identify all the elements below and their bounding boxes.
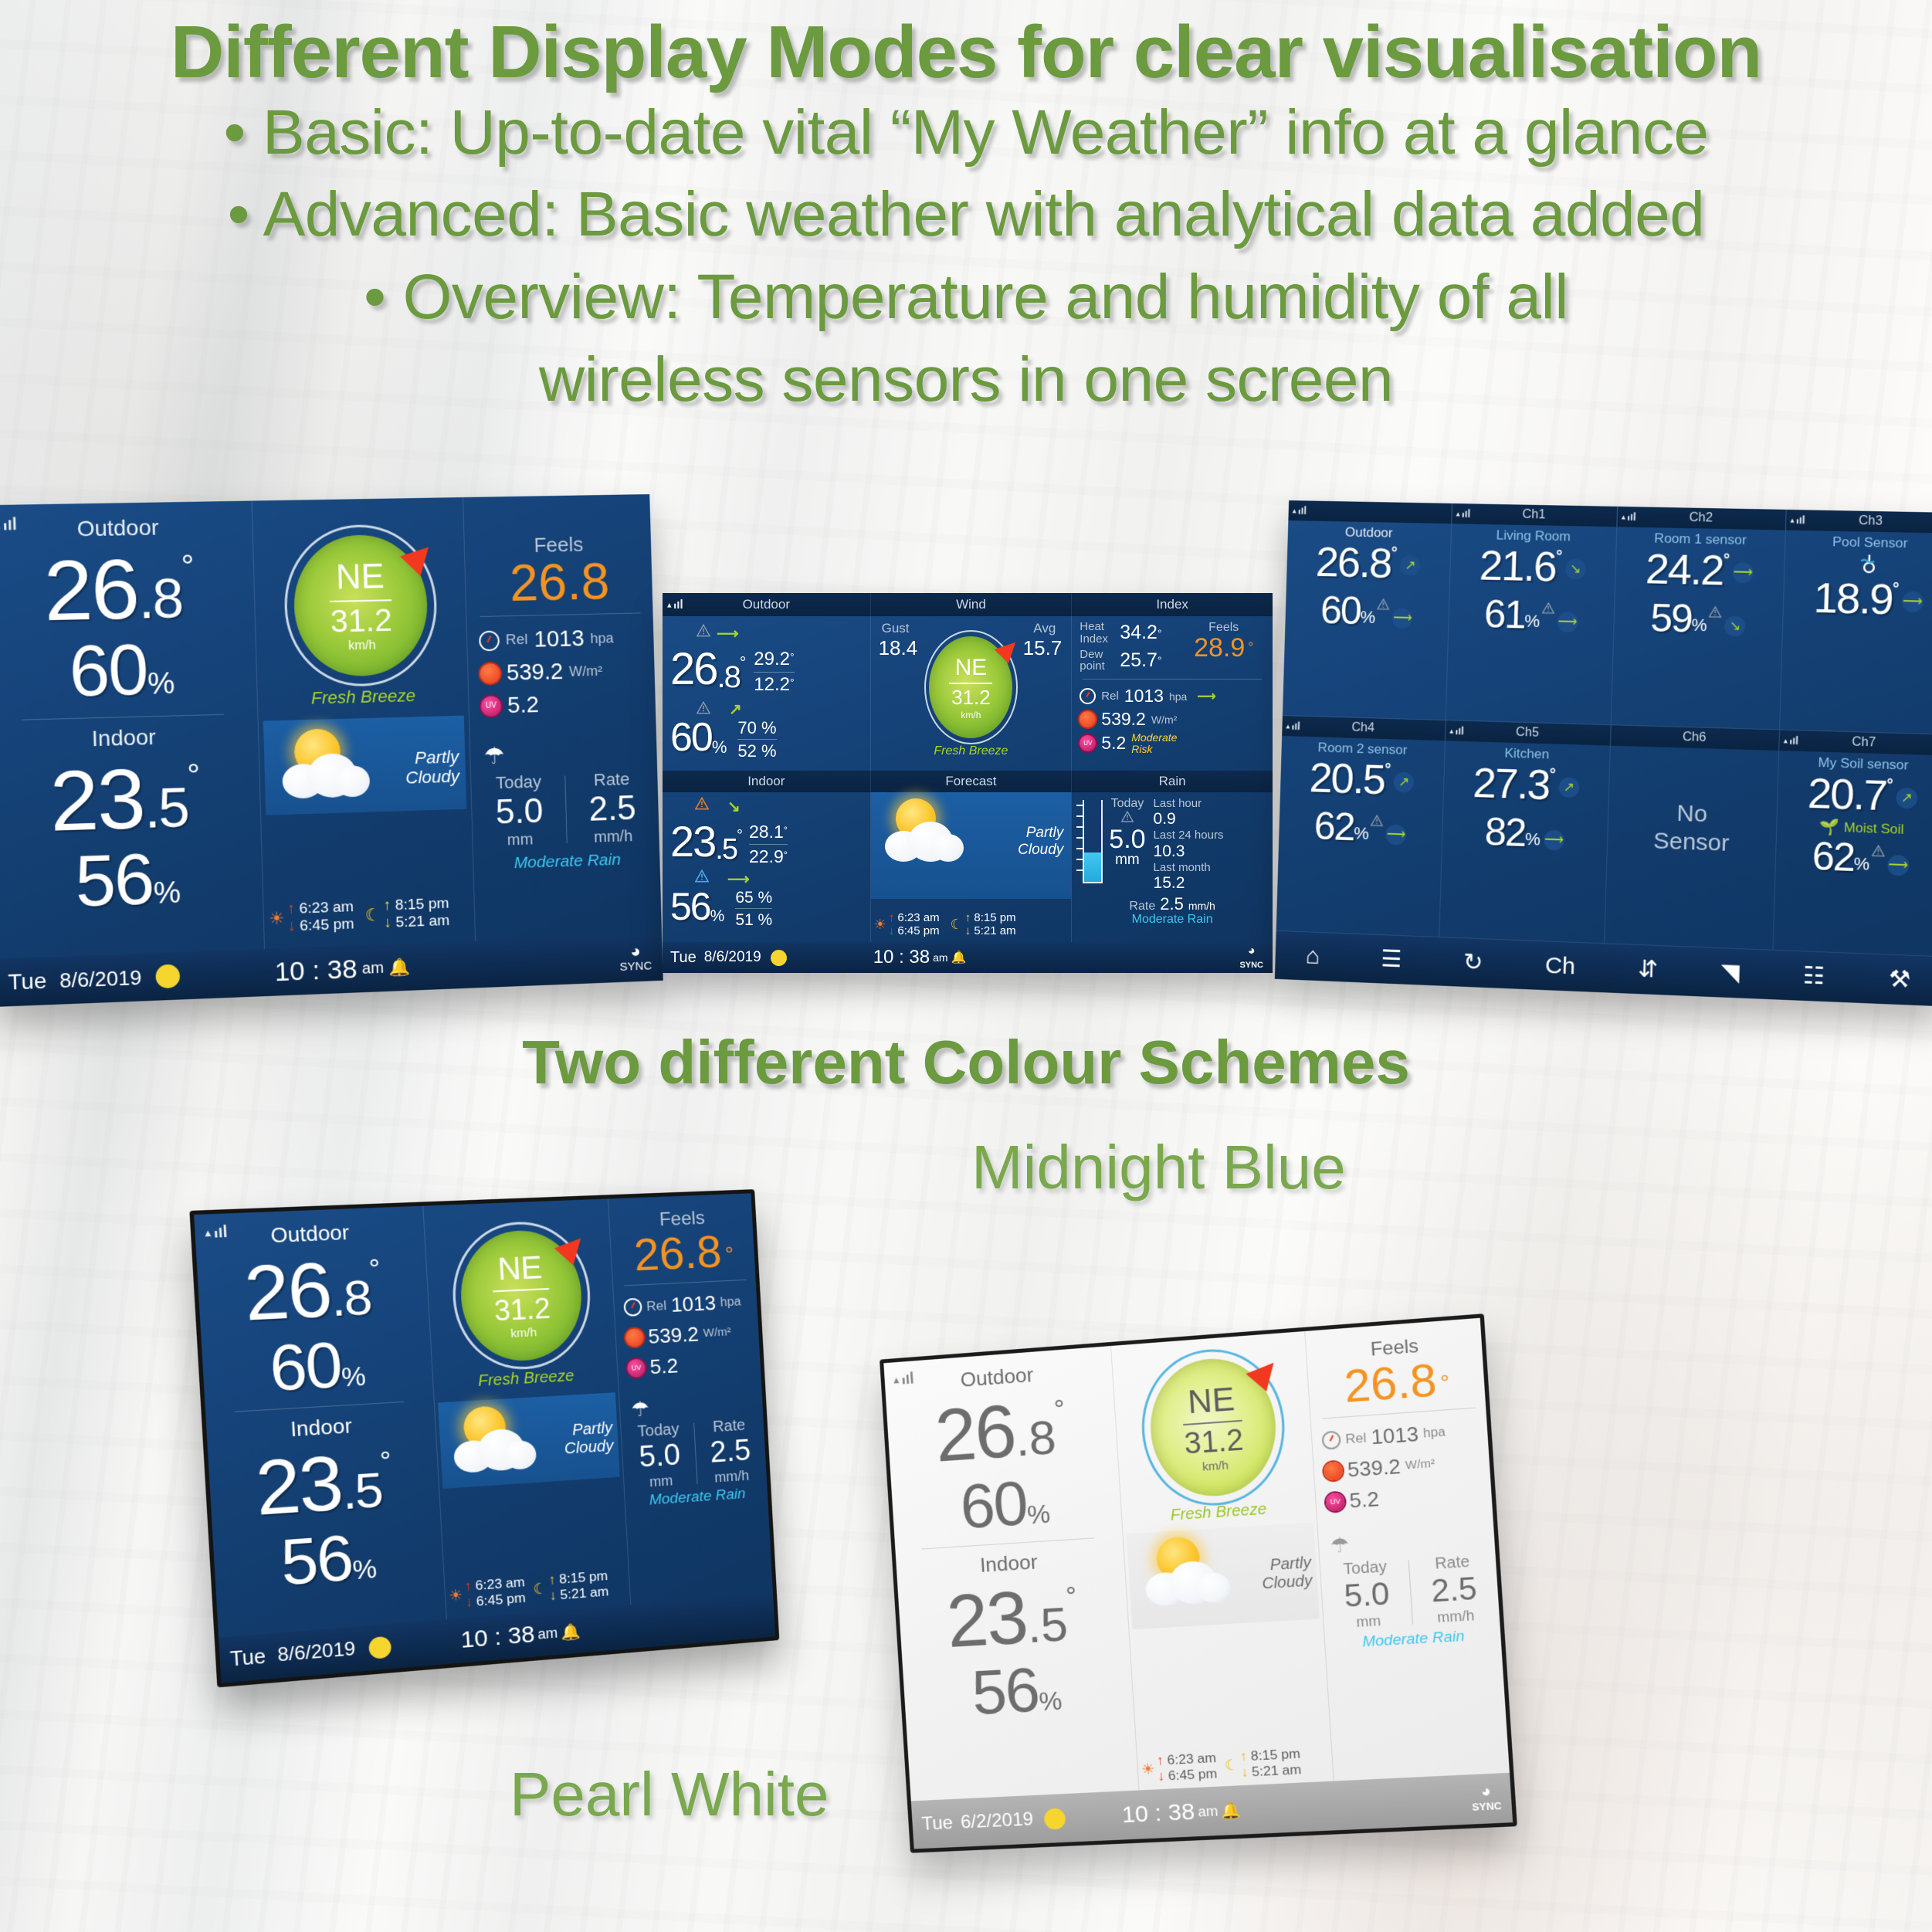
- alarm-bell-icon: 🔔: [561, 1621, 581, 1642]
- overview-humidity-trend-icon: ⟶: [1386, 825, 1407, 846]
- adv-indoor-temp-max: 28.1: [749, 822, 784, 842]
- adv-uv-value: 5.2: [1101, 733, 1126, 754]
- pearl-white-label: Pearl White: [510, 1759, 829, 1830]
- signal-strength-icon: [1293, 504, 1307, 514]
- overview-cell-header: Ch2: [1617, 507, 1785, 530]
- deg: °: [368, 1253, 381, 1285]
- deg: °: [1158, 654, 1162, 666]
- pw-sunset: 6:45 pm: [1168, 1766, 1218, 1783]
- overview-humidity-trend-icon: ⟶: [1887, 855, 1909, 876]
- deg: °: [1549, 766, 1556, 785]
- overview-cell[interactable]: Ch4Room 2 sensor20.5°↗62%⟶: [1276, 716, 1446, 937]
- outdoor-temp-trend-icon: ⟶: [717, 624, 739, 643]
- adv-rain-lastmonth-label: Last month: [1154, 861, 1224, 874]
- signal-strength-icon: [1456, 507, 1470, 517]
- colour-schemes-heading: Two different Colour Schemes: [0, 1027, 1932, 1098]
- moon-icon: ☾: [364, 905, 381, 926]
- basic-footer-day: Tue: [8, 968, 47, 995]
- overview-humidity-trend-icon: ⟶: [1544, 829, 1564, 850]
- adv-solar-unit: W/m²: [1151, 713, 1177, 726]
- adv-footer-date: 8/6/2019: [704, 949, 761, 966]
- deg: °: [1065, 1581, 1077, 1612]
- sunrise-sunset-icon: ☀: [449, 1586, 463, 1605]
- wind-dial: NE 31.2 km/h: [929, 636, 1012, 738]
- pw-footer-date: 6/2/2019: [960, 1808, 1034, 1833]
- pw-blue-solar-unit: W/m²: [703, 1324, 731, 1342]
- pw-footer-time: 10 : 38: [1121, 1798, 1195, 1829]
- basic-indoor-temp-int: 23: [49, 749, 146, 851]
- adv-uv-risk: Moderate Risk: [1131, 732, 1177, 754]
- pw-blue-footer-ampm: am: [537, 1625, 558, 1643]
- barometer-icon: [1321, 1430, 1341, 1449]
- overview-channel-label: Ch4: [1351, 721, 1374, 736]
- overview-temp-trend-icon: ↗: [1558, 777, 1579, 798]
- adv-rain-lasthour-value: 0.9: [1154, 810, 1224, 829]
- rain-rate-label: Rate: [565, 768, 658, 791]
- adv-index-panel: Heat Index 34.2 ° Dew point 25.7 ° Feels: [1071, 616, 1273, 771]
- deg: °: [1893, 580, 1900, 598]
- adv-indoor-hum: 56: [670, 884, 710, 929]
- pw-blue-uv-value: 5.2: [649, 1351, 680, 1382]
- overview-humidity-trend-icon: ↘: [1724, 615, 1746, 636]
- pw-blue-feels-value: 26.8: [632, 1226, 723, 1281]
- basic-moonrise: 8:15 pm: [395, 896, 449, 914]
- basic-footer-date: 8/6/2019: [59, 965, 142, 993]
- outdoor-hum-trend-icon: ↗: [729, 700, 742, 719]
- alert-warning-icon: [1541, 602, 1554, 619]
- pw-moonset: 5:21 am: [1251, 1762, 1301, 1780]
- adv-sunrise: 6:23 am: [897, 911, 939, 924]
- pw-indoor-hum: 56: [970, 1654, 1040, 1729]
- sunrise-sunset-icon: ☀: [269, 908, 285, 929]
- wifi-icon: ◕: [1239, 945, 1263, 958]
- overview-temp-value: 24.2: [1645, 548, 1724, 592]
- pct: %: [1691, 615, 1707, 636]
- pw-blue-outdoor-hum: 60: [268, 1327, 343, 1405]
- pct: %: [352, 1554, 378, 1586]
- adv-footer-ampm: am: [933, 951, 947, 964]
- overview-temp-value: 21.6: [1479, 544, 1556, 588]
- overview-temp-trend-icon: ↗: [1896, 788, 1917, 809]
- indoor-temp-trend-icon: ↘: [727, 797, 741, 816]
- overview-temp-value: 27.3: [1473, 762, 1550, 807]
- calendar-icon[interactable]: ☷: [1802, 964, 1825, 989]
- adv-outdoor-temp-min: 12.2: [754, 674, 790, 695]
- records-search-icon[interactable]: ☰: [1381, 947, 1402, 971]
- adv-indoor-temp-dec: .5: [715, 833, 737, 866]
- wind-dial: NE 31.2 km/h: [292, 534, 429, 677]
- deg: °: [1385, 761, 1391, 778]
- adv-solar-value: 539.2: [1101, 709, 1146, 730]
- adv-wind-gust-label: Gust: [882, 621, 910, 636]
- signal-strength-icon: [1790, 514, 1805, 524]
- overview-cell[interactable]: Ch2Room 1 sensor24.2°⟶59%↘: [1612, 507, 1787, 730]
- pw-blue-footer-time: 10 : 38: [460, 1622, 535, 1655]
- deg: °: [1053, 1394, 1066, 1425]
- alarm-bell-icon: 🔔: [388, 957, 411, 978]
- overview-cell[interactable]: Outdoor26.8°↗60%⟶: [1283, 500, 1452, 720]
- pw-uv-value: 5.2: [1348, 1483, 1380, 1517]
- pw-blue-rain-rate-value: 2.5: [695, 1433, 766, 1471]
- basic-outdoor-hum-unit: %: [147, 667, 175, 702]
- deg: °: [724, 1242, 734, 1266]
- adv-wind-avg-label: Avg: [1033, 621, 1056, 636]
- refresh-icon[interactable]: ↻: [1463, 951, 1483, 974]
- moon-icon: ☾: [1224, 1756, 1239, 1774]
- pw-blue-indoor-temp-dec: .5: [341, 1462, 383, 1521]
- overview-temp-value: 20.5: [1309, 757, 1385, 801]
- rain-umbrella-icon: ☂: [483, 744, 505, 770]
- uv-index-icon: UV: [1080, 735, 1096, 751]
- adv-sunset: 6:45 pm: [897, 924, 939, 937]
- pw-solar-unit: W/m²: [1405, 1456, 1435, 1476]
- adv-rain-rate-value: 2.5: [1160, 894, 1184, 914]
- signal-strength-icon: [1622, 510, 1637, 520]
- alarm-bell-icon: 🔔: [1221, 1800, 1242, 1821]
- deg: °: [737, 827, 743, 845]
- pw-outdoor-hum: 60: [958, 1467, 1029, 1543]
- adv-dew-point-label: Dew point: [1080, 649, 1120, 673]
- basic-indoor-hum-unit: %: [153, 876, 181, 911]
- pct: %: [1525, 829, 1541, 850]
- alert-warning-icon: [695, 797, 709, 812]
- adv-panel-header-rain: Rain: [1071, 771, 1273, 792]
- overview-channel-label: Ch3: [1859, 514, 1883, 529]
- sunrise-sunset-icon: ☀: [874, 917, 886, 933]
- home-icon[interactable]: ⌂: [1306, 944, 1320, 968]
- uv-value: 5.2: [507, 689, 540, 722]
- adv-indoor-hum-min: 51 %: [735, 911, 772, 929]
- overview-temp-trend-icon: ⟶: [1902, 591, 1924, 612]
- adv-rain-today-value: 5.0: [1109, 825, 1145, 855]
- solar-radiation-icon: [1080, 711, 1096, 727]
- adv-panel-header-wind: Wind: [870, 593, 1072, 616]
- pw-blue-footer-date: 8/6/2019: [277, 1638, 356, 1666]
- channel-icon[interactable]: Ch: [1544, 954, 1575, 979]
- pw-indoor-temp-int: 23: [944, 1575, 1029, 1666]
- alert-warning-icon: [1109, 811, 1145, 825]
- uv-index-icon: UV: [480, 696, 501, 717]
- pw-moonrise: 8:15 pm: [1250, 1746, 1300, 1764]
- midnight-blue-label: Midnight Blue: [971, 1132, 1346, 1203]
- pw-blue-moonset: 5:21 am: [560, 1584, 609, 1602]
- display-pearl-white-device: Outdoor 26 .8 ° 60 % Indoor 23 .5 ° 56 %: [880, 1313, 1517, 1853]
- pw-solar-value: 539.2: [1347, 1451, 1402, 1486]
- pw-blue-wind-desc: Fresh Breeze: [433, 1365, 618, 1394]
- basic-sunrise: 6:23 am: [299, 899, 354, 917]
- pw-blue-forecast-text: Partly Cloudy: [563, 1419, 614, 1459]
- pw-blue-outdoor-temp-int: 26: [242, 1246, 333, 1338]
- pw-footer-ampm: am: [1198, 1803, 1219, 1821]
- adv-rain-last24-value: 10.3: [1154, 842, 1224, 861]
- adv-forecast-text: Partly Cloudy: [1018, 825, 1063, 859]
- overview-temp-trend-icon: ↗: [1394, 772, 1415, 793]
- barometer-icon: [1080, 688, 1096, 704]
- deg: °: [1886, 776, 1893, 795]
- pw-outdoor-temp-int: 26: [933, 1388, 1018, 1480]
- deg: °: [379, 1446, 392, 1477]
- pct: %: [1354, 823, 1369, 844]
- adv-outdoor-temp-max: 29.2: [754, 649, 790, 669]
- deg: °: [1248, 639, 1253, 655]
- adv-pressure-value: 1013: [1124, 686, 1164, 707]
- forecast-text: Partly Cloudy: [405, 747, 459, 788]
- deg: °: [784, 849, 788, 860]
- overview-sensor-name: Pool Sensor: [1791, 534, 1932, 553]
- page-title: Different Display Modes for clear visual…: [0, 14, 1932, 92]
- adv-panel-header-index: Index: [1071, 593, 1273, 616]
- display-basic-device: Outdoor 26 .8 ° 60 % Indoor 23 .5 ° 56 %: [0, 494, 663, 1007]
- basic-outdoor-deg: °: [181, 549, 195, 585]
- moon-phase-icon: [368, 1635, 391, 1659]
- settings-wrench-icon[interactable]: ⚒: [1888, 968, 1910, 992]
- adv-outdoor-hum: 60: [670, 714, 712, 761]
- overview-channel-label: Ch6: [1683, 730, 1707, 745]
- forecast-partly-cloudy-icon: [882, 797, 971, 871]
- signal-strength-icon: [1449, 724, 1464, 734]
- overview-humidity-trend-icon: ⟶: [1392, 608, 1413, 629]
- pw-sunrise: 6:23 am: [1167, 1751, 1217, 1768]
- overview-cell-header: [1288, 500, 1451, 524]
- overview-humidity-value: 82: [1484, 812, 1526, 852]
- forecast-partly-cloudy-icon: [276, 724, 380, 808]
- adv-footer-day: Tue: [670, 949, 697, 967]
- adv-moonset: 5:21 am: [974, 924, 1015, 937]
- adv-rain-panel: Today 5.0 mm Last hour 0.9 Last 24 hours…: [1071, 792, 1273, 942]
- rain-today-value: 5.0: [473, 791, 566, 833]
- pct: %: [1853, 853, 1869, 874]
- overview-no-sensor-text: No Sensor: [1614, 798, 1770, 859]
- forecast-partly-cloudy-icon: [448, 1402, 545, 1483]
- overview-humidity-trend-icon: ⟶: [1557, 612, 1578, 632]
- pw-rain-rate-value: 2.5: [1409, 1570, 1499, 1611]
- adv-rain-lastmonth-value: 15.2: [1154, 874, 1224, 893]
- pw-footer-sync: SYNC: [1472, 1800, 1503, 1813]
- adv-outdoor-deg: °: [740, 654, 746, 673]
- adv-wind-desc: Fresh Breeze: [871, 744, 1072, 758]
- graph-icon[interactable]: ◥: [1720, 961, 1740, 986]
- pw-blue-pressure-value: 1013: [670, 1288, 717, 1320]
- adv-outdoor-hum-max: 70 %: [737, 719, 776, 737]
- bullet-overview-line2: wireless sensors in one screen: [0, 339, 1932, 422]
- wind-dial: NE 31.2 km/h: [1147, 1354, 1280, 1500]
- signal-strength-icon: [1286, 720, 1300, 730]
- pw-blue-indoor-temp-int: 23: [253, 1439, 344, 1534]
- overview-temp-value: 20.7: [1807, 772, 1887, 818]
- adv-rain-last24-label: Last 24 hours: [1154, 829, 1224, 842]
- rain-today-unit: mm: [473, 830, 567, 851]
- pw-pressure-unit: hpa: [1422, 1423, 1446, 1444]
- overview-temp-trend-icon: ↗: [1400, 555, 1421, 576]
- alarm-bell-icon: 🔔: [951, 950, 967, 965]
- overview-channel-label: Ch7: [1852, 735, 1876, 750]
- adv-panel-header-indoor: Indoor: [663, 771, 870, 792]
- solar-radiation-icon: [1324, 1461, 1344, 1480]
- overview-channel-label: Ch2: [1689, 511, 1713, 526]
- pw-rain-today-value: 5.0: [1323, 1575, 1411, 1616]
- headline-block: Different Display Modes for clear visual…: [0, 0, 1932, 421]
- adv-outdoor-temp-int: 26: [670, 643, 717, 695]
- deg: °: [790, 651, 795, 663]
- alert-warning-icon: [695, 869, 709, 885]
- alert-warning-icon: [1371, 815, 1384, 831]
- pw-forecast-text: Partly Cloudy: [1260, 1554, 1313, 1594]
- overview-temp-trend-icon: ↘: [1564, 559, 1585, 580]
- overview-humidity-value: 62: [1812, 836, 1855, 877]
- adv-wind-panel: Gust 18.4 Avg 15.7 NE 31.2 km/h Fresh Br…: [870, 616, 1072, 771]
- max-min-icon[interactable]: ⇵: [1638, 958, 1659, 982]
- pw-blue-rain-today-value: 5.0: [624, 1438, 697, 1476]
- overview-humidity-value: 62: [1313, 806, 1354, 846]
- pct: %: [341, 1361, 367, 1393]
- pw-blue-outdoor-temp-dec: .8: [330, 1269, 372, 1328]
- uv-index-icon: UV: [627, 1358, 646, 1378]
- deg: °: [1723, 551, 1730, 570]
- adv-heat-index-label: Heat Index: [1080, 621, 1120, 646]
- alert-warning-icon: [1709, 606, 1722, 622]
- adv-indoor-temp-min: 22.9: [749, 846, 784, 866]
- signal-strength-icon: [1783, 734, 1798, 744]
- basic-footer-sync: SYNC: [619, 959, 652, 974]
- adv-rain-today-label: Today: [1109, 797, 1145, 811]
- wind-description: Fresh Breeze: [257, 684, 468, 710]
- overview-temp-trend-icon: ⟶: [1732, 562, 1754, 583]
- adv-footer-time: 10 : 38: [873, 947, 930, 968]
- basic-footer-time: 10 : 38: [274, 954, 358, 988]
- basic-moonset: 5:21 am: [395, 913, 449, 931]
- indoor-hum-trend-icon: ⟶: [727, 869, 750, 889]
- rain-today-label: Today: [472, 771, 565, 795]
- bullet-basic: • Basic: Up-to-date vital “My Weather” i…: [0, 92, 1932, 175]
- wifi-icon: ◕: [1470, 1783, 1501, 1801]
- moon-icon: ☾: [533, 1579, 547, 1598]
- solar-radiation-icon: [480, 663, 500, 684]
- basic-indoor-deg: °: [187, 758, 201, 794]
- sunrise-sunset-icon: ☀: [1141, 1760, 1155, 1778]
- pw-blue-pressure-unit: hpa: [720, 1293, 741, 1312]
- pct: %: [1524, 611, 1541, 632]
- forecast-partly-cloudy-icon: [1139, 1532, 1239, 1616]
- adv-rain-desc: Moderate Rain: [1078, 913, 1266, 927]
- adv-wind-gust-value: 18.4: [879, 636, 918, 660]
- pressure-value: 1013: [534, 622, 585, 656]
- basic-indoor-hum: 56: [74, 839, 154, 924]
- pct: %: [1360, 607, 1375, 628]
- pw-pressure-value: 1013: [1370, 1418, 1419, 1452]
- overview-cell[interactable]: Ch7My Soil sensor20.7°↗🌱Moist Soil62%⟶: [1773, 730, 1932, 957]
- moon-phase-icon: [1043, 1808, 1066, 1830]
- wind-dial: NE 31.2 km/h: [457, 1229, 585, 1364]
- deg: °: [784, 825, 788, 836]
- pct: %: [1038, 1686, 1063, 1717]
- pw-pressure-prefix: Rel: [1345, 1428, 1368, 1449]
- adv-rain-rate-label: Rate: [1129, 900, 1155, 913]
- alert-warning-icon: [1871, 845, 1884, 861]
- adv-panel-header-outdoor: Outdoor: [663, 593, 870, 616]
- adv-outdoor-temp-dec: .8: [717, 660, 740, 695]
- adv-heat-index-value: 34.2: [1120, 622, 1158, 644]
- basic-feels-label: Feels: [464, 494, 651, 559]
- basic-outdoor-hum: 60: [68, 630, 148, 713]
- overview-cell[interactable]: Ch3Pool Sensor18.9°⟶: [1780, 510, 1932, 735]
- deg: °: [1158, 627, 1162, 639]
- pw-blue-pressure-prefix: Rel: [646, 1296, 667, 1317]
- basic-feels-value: 26.8: [466, 551, 652, 613]
- rain-description: Moderate Rain: [474, 849, 660, 874]
- overview-humidity-value: 61: [1483, 595, 1525, 635]
- pressure-unit: hpa: [590, 628, 614, 649]
- adv-dew-point-value: 25.7: [1120, 649, 1158, 672]
- deg: °: [790, 676, 795, 688]
- overview-temp-value: 26.8: [1315, 541, 1391, 585]
- deg: °: [1556, 547, 1563, 565]
- pool-thermometer-icon: [1858, 552, 1881, 576]
- adv-panel-header-forecast: Forecast: [870, 771, 1072, 792]
- rain-rate-unit: mm/h: [567, 827, 659, 848]
- adv-pressure-unit: hpa: [1169, 690, 1187, 703]
- adv-feels-value: 28.9: [1194, 633, 1245, 663]
- barometer-icon: [623, 1298, 642, 1317]
- adv-wind-avg-value: 15.7: [1023, 636, 1063, 660]
- alert-warning-icon: [1377, 598, 1390, 614]
- deg: °: [1439, 1370, 1450, 1395]
- basic-footer-ampm: am: [361, 959, 384, 978]
- barometer-icon: [479, 631, 500, 652]
- solar-value: 539.2: [506, 656, 563, 690]
- pressure-trend-icon: ⟶: [1197, 689, 1215, 704]
- uv-index-icon: UV: [1325, 1493, 1345, 1512]
- adv-outdoor-hum-unit: %: [712, 737, 727, 758]
- pct: %: [710, 907, 725, 926]
- overview-cell[interactable]: Ch5Kitchen27.3°↗82%⟶: [1439, 720, 1612, 944]
- adv-moonrise: 8:15 pm: [974, 911, 1015, 924]
- pw-blue-footer-day: Tue: [229, 1645, 266, 1671]
- moon-phase-icon: [771, 950, 787, 966]
- overview-humidity-value: 60: [1320, 591, 1361, 630]
- overview-cell-header: Ch1: [1452, 503, 1617, 527]
- rain-rate-value: 2.5: [566, 788, 659, 830]
- deg: °: [1391, 544, 1398, 562]
- basic-outdoor-temp-int: 26: [42, 539, 140, 640]
- overview-cell[interactable]: Ch1Living Room21.6°↘61%⟶: [1446, 503, 1618, 725]
- adv-outdoor-hum-min: 52 %: [737, 742, 776, 761]
- overview-humidity-value: 59: [1650, 598, 1693, 639]
- adv-rain-lasthour-label: Last hour: [1154, 797, 1224, 810]
- rain-umbrella-icon: ☂: [1330, 1533, 1350, 1557]
- solar-radiation-icon: [625, 1328, 644, 1347]
- signal-strength-icon: [667, 598, 683, 608]
- pct: %: [1026, 1499, 1051, 1530]
- display-overview-device: Outdoor26.8°↗60%⟶Ch1Living Room21.6°↘61%…: [1275, 500, 1932, 1006]
- adv-indoor-temp-int: 23: [670, 816, 715, 866]
- wifi-icon: ◕: [619, 942, 652, 961]
- bullet-advanced: • Advanced: Basic weather with analytica…: [0, 174, 1932, 256]
- adv-forecast-panel: Partly Cloudy ☀ ↑ 6:23 am ↓ 6:45 pm ☾ ↑ …: [870, 792, 1072, 942]
- adv-indoor-hum-max: 65 %: [735, 889, 772, 907]
- adv-outdoor-panel: ⟶ 26 .8 ° 29.2° 12.2° ↗: [663, 616, 870, 771]
- pw-blue-solar-value: 539.2: [647, 1319, 700, 1352]
- moon-phase-icon: [156, 964, 181, 988]
- rain-umbrella-icon: ☂: [631, 1397, 650, 1422]
- overview-channel-label: Ch1: [1522, 508, 1545, 523]
- pw-blue-sunset: 6:45 pm: [476, 1590, 526, 1608]
- overview-cell[interactable]: Ch6No Sensor: [1605, 725, 1779, 951]
- pw-indoor-temp-dec: .5: [1025, 1597, 1069, 1655]
- display-midnight-blue-device: Outdoor 26 .8 ° 60 % Indoor 23 .5 ° 56 %: [189, 1189, 779, 1687]
- pw-outdoor-temp-dec: .8: [1014, 1410, 1058, 1468]
- overview-temp-value: 18.9: [1813, 577, 1893, 622]
- adv-footer-sync: SYNC: [1239, 961, 1263, 970]
